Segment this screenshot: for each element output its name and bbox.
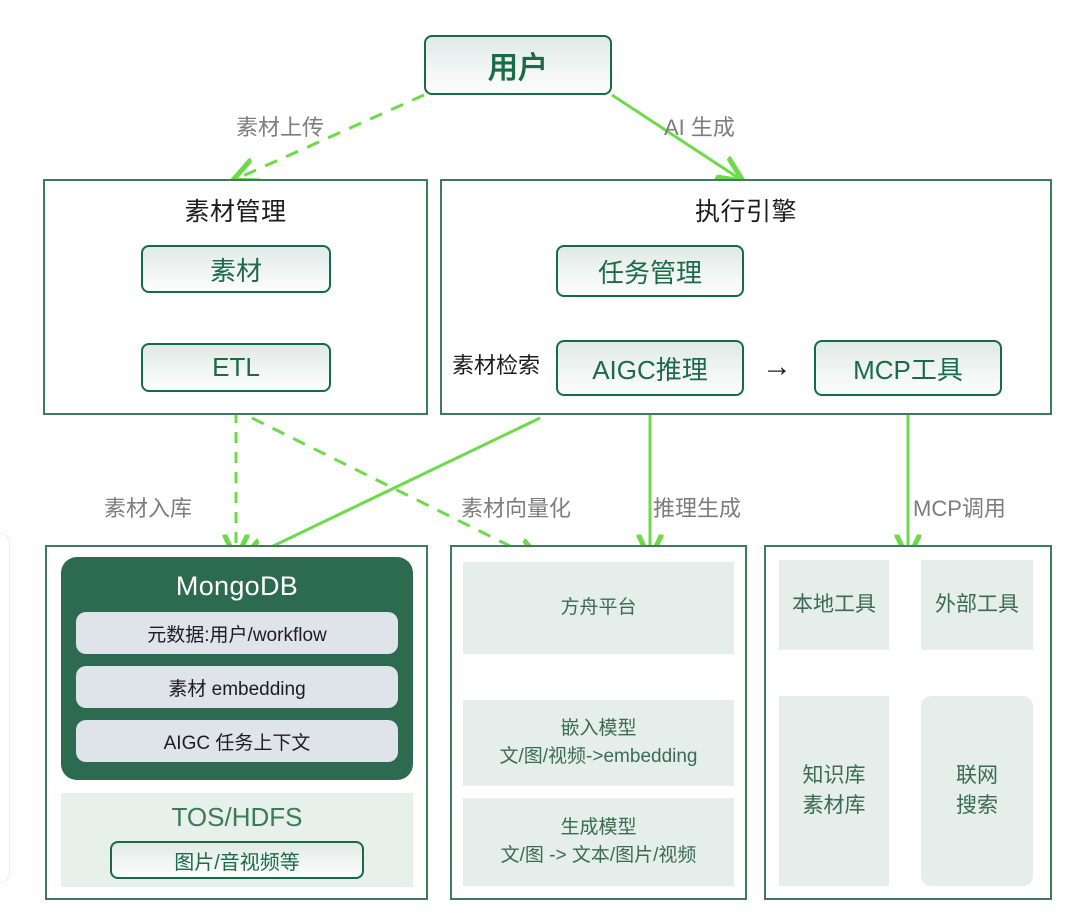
node-task-management[interactable]: 任务管理 <box>556 245 744 297</box>
diagram-canvas: 用户 素材管理 素材 ETL 执行引擎 任务管理 素材检索 AIGC推理 → M… <box>0 0 1080 920</box>
node-web-search-line2: 搜索 <box>956 791 998 821</box>
group-execution-engine-title: 执行引擎 <box>442 192 1050 228</box>
node-knowledge-base-line1: 知识库 <box>803 761 866 791</box>
node-etl-label: ETL <box>212 352 260 383</box>
node-media-files[interactable]: 图片/音视频等 <box>110 841 364 879</box>
node-knowledge-base[interactable]: 知识库 素材库 <box>779 696 889 886</box>
node-generative-model[interactable]: 生成模型 文/图 -> 文本/图片/视频 <box>463 798 734 886</box>
node-ark-platform[interactable]: 方舟平台 <box>463 562 734 654</box>
node-generative-model-line2: 文/图 -> 文本/图片/视频 <box>501 842 697 870</box>
tos-hdfs-title: TOS/HDFS <box>172 802 303 833</box>
node-etl[interactable]: ETL <box>141 343 331 392</box>
arrow-aigc-to-mcp-glyph: → <box>762 352 792 382</box>
node-user-label: 用户 <box>488 43 548 87</box>
card-tos-hdfs: TOS/HDFS 图片/音视频等 <box>61 793 413 887</box>
node-embedding-model[interactable]: 嵌入模型 文/图/视频->embedding <box>463 700 734 786</box>
node-mcp-tool-label: MCP工具 <box>853 350 963 387</box>
group-asset-management-title: 素材管理 <box>45 192 426 228</box>
node-asset[interactable]: 素材 <box>141 245 331 293</box>
mongodb-item-embedding[interactable]: 素材 embedding <box>76 666 398 708</box>
node-asset-label: 素材 <box>210 251 262 288</box>
card-mongodb: MongoDB 元数据:用户/workflow 素材 embedding AIG… <box>61 557 413 780</box>
node-local-tool[interactable]: 本地工具 <box>779 560 889 650</box>
label-asset-retrieval: 素材检索 <box>452 348 540 380</box>
node-aigc-inference-label: AIGC推理 <box>592 350 708 387</box>
edge-label-inference-generate: 推理生成 <box>653 491 741 523</box>
mongodb-item-aigc-context[interactable]: AIGC 任务上下文 <box>76 720 398 762</box>
edge-aigc-to-mongodb <box>244 418 540 560</box>
node-external-tool[interactable]: 外部工具 <box>921 560 1033 650</box>
node-embedding-model-line1: 嵌入模型 <box>560 715 636 743</box>
node-ark-platform-label: 方舟平台 <box>560 594 636 622</box>
node-local-tool-label: 本地工具 <box>792 590 876 620</box>
edge-asset-management-to-ark <box>252 418 538 560</box>
edge-label-asset-store: 素材入库 <box>104 491 192 523</box>
node-knowledge-base-line2: 素材库 <box>803 791 866 821</box>
edge-label-upload: 素材上传 <box>236 110 324 142</box>
node-task-management-label: 任务管理 <box>598 253 702 290</box>
left-panel-edge <box>0 533 10 883</box>
node-generative-model-line1: 生成模型 <box>560 814 636 842</box>
node-media-files-label: 图片/音视频等 <box>174 846 300 875</box>
node-mcp-tool[interactable]: MCP工具 <box>814 340 1002 396</box>
edge-label-mcp-invoke: MCP调用 <box>913 491 1006 523</box>
mongodb-item-metadata[interactable]: 元数据:用户/workflow <box>76 612 398 654</box>
node-aigc-inference[interactable]: AIGC推理 <box>556 340 744 396</box>
edge-label-ai-generate: AI 生成 <box>664 110 735 142</box>
edge-label-asset-vectorize: 素材向量化 <box>461 491 571 523</box>
node-external-tool-label: 外部工具 <box>935 590 1019 620</box>
node-user[interactable]: 用户 <box>424 35 612 95</box>
node-embedding-model-line2: 文/图/视频->embedding <box>500 743 698 771</box>
node-web-search-line1: 联网 <box>956 761 998 791</box>
mongodb-title: MongoDB <box>176 571 298 602</box>
node-web-search[interactable]: 联网 搜索 <box>921 696 1033 886</box>
